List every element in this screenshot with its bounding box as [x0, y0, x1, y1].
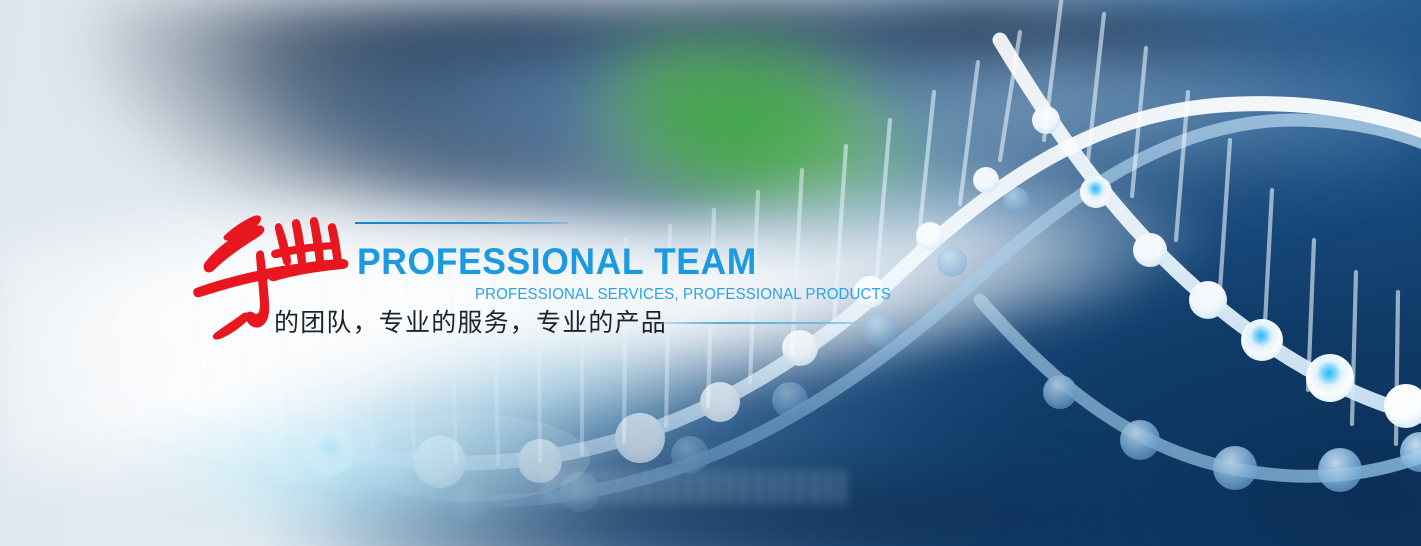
bottom-divider-line: [660, 322, 873, 324]
page-title: PROFESSIONAL TEAM: [357, 240, 757, 284]
top-divider-line: [355, 222, 568, 224]
subtitle-english: PROFESSIONAL SERVICES, PROFESSIONAL PROD…: [475, 285, 891, 304]
banner-copy-block: PROFESSIONAL TEAM PROFESSIONAL SERVICES,…: [0, 0, 1421, 546]
subtitle-chinese: 的团队，专业的服务，专业的产品: [274, 306, 667, 340]
promo-banner: .rung { stroke:#e8f4ff; stroke-opacity:.…: [0, 0, 1421, 546]
